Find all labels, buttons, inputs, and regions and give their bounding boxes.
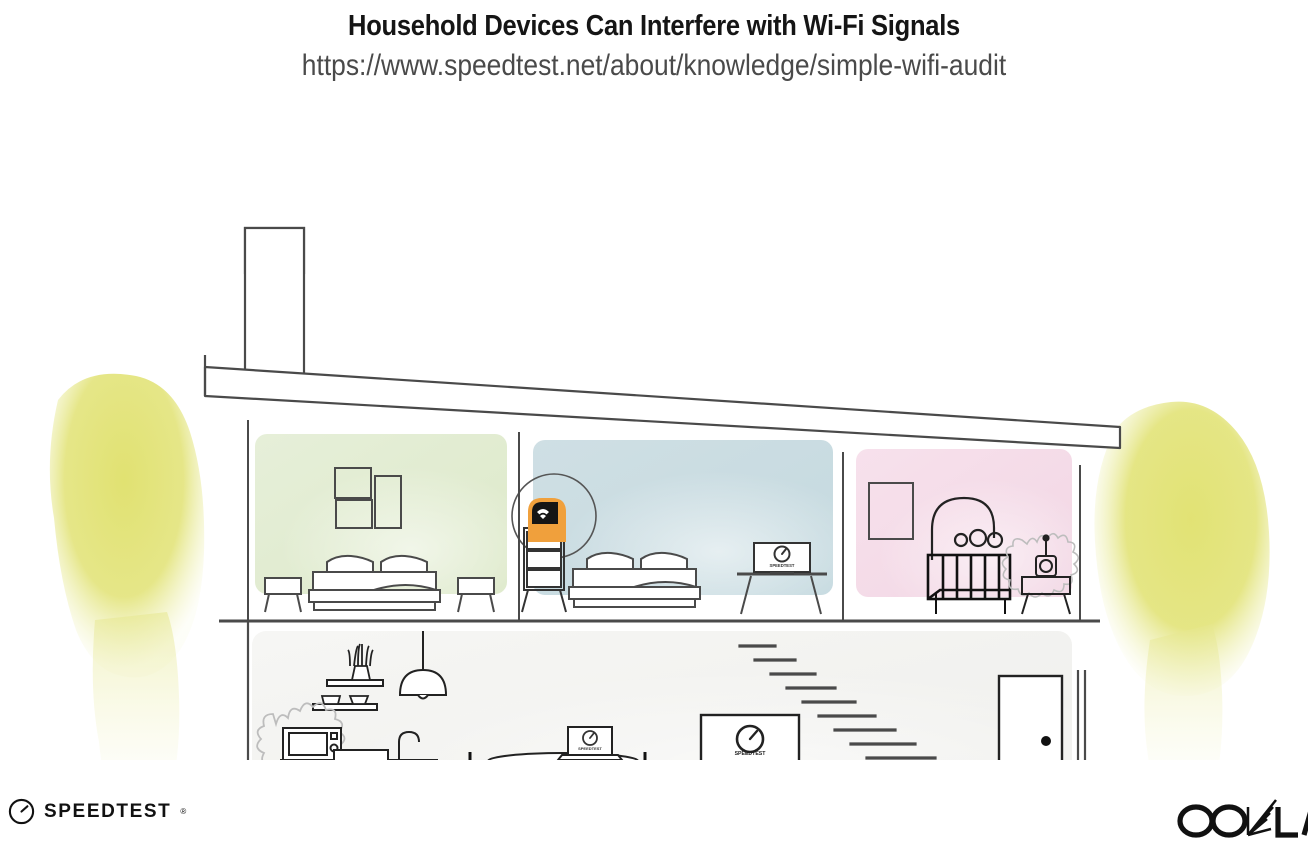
nightstand-left-green <box>265 578 301 612</box>
television-speedtest[interactable]: SPEEDTEST <box>701 715 799 760</box>
poster-page: Household Devices Can Interfere with Wi-… <box>0 0 1308 861</box>
foliage-right <box>1094 402 1269 760</box>
page-url: https://www.speedtest.net/about/knowledg… <box>78 43 1229 83</box>
room-living-kitchen: SPEEDTEST <box>252 631 1072 760</box>
speedtest-wordmark: SPEEDTEST <box>44 801 171 823</box>
room-bedroom-green <box>255 434 507 612</box>
ookla-logo[interactable] <box>1174 798 1308 849</box>
header: Household Devices Can Interfere with Wi-… <box>0 0 1308 83</box>
microwave[interactable] <box>283 728 341 760</box>
house-illustration: SPEEDTEST <box>0 100 1308 760</box>
wifi-router-icon[interactable] <box>528 498 566 542</box>
room-nursery-pink <box>856 449 1078 614</box>
ookla-mark <box>1174 798 1308 844</box>
door-knob-icon <box>1041 736 1051 746</box>
monitor-speedtest-blue[interactable]: SPEEDTEST <box>754 543 810 575</box>
laptop-screen-label: SPEEDTEST <box>578 746 602 751</box>
speedometer-icon <box>8 798 35 825</box>
foliage-left <box>50 374 204 760</box>
ookla-k-fan <box>1248 800 1276 835</box>
laptop-speedtest[interactable]: SPEEDTEST <box>558 727 622 760</box>
room-bedroom-blue: SPEEDTEST <box>512 440 833 614</box>
monitor-screen-label: SPEEDTEST <box>770 563 795 568</box>
speedtest-registered-mark: ® <box>180 807 186 816</box>
front-door[interactable] <box>999 676 1062 760</box>
nightstand-right-green <box>458 578 494 612</box>
footer: SPEEDTEST ® <box>0 780 1308 861</box>
tv-screen-label: SPEEDTEST <box>735 751 767 757</box>
page-title: Household Devices Can Interfere with Wi-… <box>78 0 1229 43</box>
speedtest-logo[interactable]: SPEEDTEST ® <box>8 798 186 825</box>
